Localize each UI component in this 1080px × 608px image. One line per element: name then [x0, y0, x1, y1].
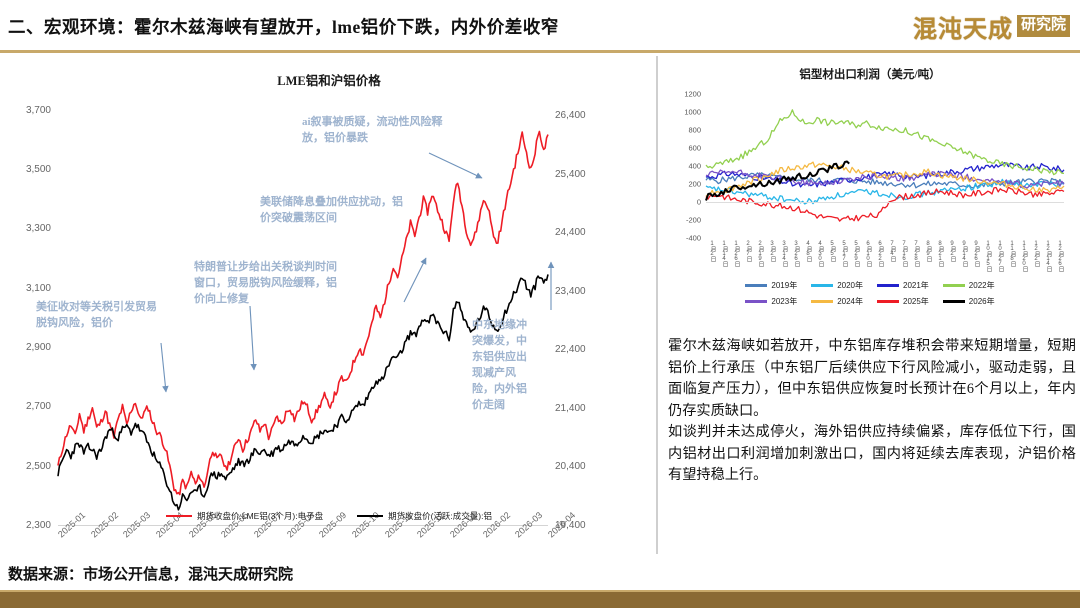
legend-label-2019年: 2019年	[771, 280, 797, 291]
right-chart-title: 铝型材出口利润（美元/吨）	[664, 66, 1076, 82]
right-chart-x-tick: 11月20日	[1020, 241, 1029, 271]
legend-label-2025年: 2025年	[903, 296, 929, 307]
right-chart-y-tick: 400	[688, 162, 706, 171]
right-chart-x-tick: 5月17日	[840, 241, 849, 266]
right-chart-panel: 铝型材出口利润（美元/吨） 120010008006004002000-200-…	[664, 58, 1076, 330]
column-divider	[656, 56, 658, 554]
page-title: 二、宏观环境：霍尔木兹海峡有望放开，lme铝价下跌，内外价差收窄	[8, 14, 559, 39]
right-chart-x-tick: 9月14日	[960, 241, 969, 266]
right-chart-x-tick: 8月9日	[924, 241, 933, 261]
legend-swatch-2019年	[745, 284, 767, 287]
right-chart-legend: 2019年2020年2021年2022年2023年2024年2025年2026年	[664, 280, 1076, 312]
legend-swatch-2025年	[877, 300, 899, 303]
annotation-fedcut: 美联储降息叠加供应扰动，铝价突破震荡区间	[260, 195, 408, 227]
right-chart-x-tick: 12月26日	[1056, 241, 1065, 271]
right-chart-x-tick: 1月26日	[732, 241, 741, 266]
brand-logo-text: 混沌天成	[913, 9, 1013, 44]
left-chart-legend: 期货收盘价:LME铝(3个月):电子盘 期货收盘价(活跃:成交量):铝	[6, 510, 652, 522]
legend-item-2021年: 2021年	[877, 280, 929, 291]
right-axis-tick: 25,400	[548, 169, 586, 180]
legend-swatch-2022年	[943, 284, 965, 287]
right-chart-x-tick: 9月26日	[972, 241, 981, 266]
right-chart-x-tick: 4月30日	[816, 241, 825, 266]
right-chart-x-tick: 11月8日	[1008, 241, 1017, 266]
right-chart-x-tick: 3月14日	[780, 241, 789, 266]
legend-label-2022年: 2022年	[969, 280, 995, 291]
right-chart-x-tick: 10月27日	[996, 241, 1005, 271]
brand-logo-badge: 研究院	[1017, 15, 1070, 37]
legend-item-2025年: 2025年	[877, 296, 929, 307]
right-chart-y-tick: 800	[688, 126, 706, 135]
legend-label-shfe: 期货收盘价(活跃:成交量):铝	[388, 510, 492, 522]
legend-item-2023年: 2023年	[745, 296, 797, 307]
left-chart-title: LME铝和沪铝价格	[6, 70, 652, 89]
right-chart-series-svg	[706, 90, 1064, 238]
legend-swatch-lme	[166, 515, 192, 518]
series-line-2024年	[706, 162, 1064, 196]
source-note: 数据来源：市场公开信息，混沌天成研究院	[8, 563, 293, 584]
footer-band	[0, 592, 1080, 608]
legend-label-2026年: 2026年	[969, 296, 995, 307]
legend-item-2020年: 2020年	[811, 280, 863, 291]
right-chart-x-tick: 5月29日	[852, 241, 861, 266]
right-chart-y-tick: 600	[688, 144, 706, 153]
right-chart-x-tick: 7月28日	[912, 241, 921, 266]
legend-label-lme: 期货收盘价:LME铝(3个月):电子盘	[197, 510, 323, 522]
legend-label-2021年: 2021年	[903, 280, 929, 291]
right-chart-x-tick: 6月22日	[876, 241, 885, 266]
analysis-text: 霍尔木兹海峡如若放开，中东铝库存堆积会带来短期增量，短期铝价上行承压（中东铝厂后…	[668, 336, 1076, 487]
right-axis-tick: 22,400	[548, 344, 586, 355]
right-chart-legend-row: 2023年2024年2025年2026年	[664, 296, 1076, 307]
right-chart-x-tick: 12月2日	[1032, 241, 1041, 266]
legend-item-2019年: 2019年	[745, 280, 797, 291]
annotation-ai-selloff: ai叙事被质疑，流动性风险释放，铝价暴跌	[302, 115, 450, 147]
legend-swatch-shfe	[357, 515, 383, 518]
right-chart-x-tick: 9月2日	[948, 241, 957, 261]
right-chart-x-tick: 12月14日	[1044, 241, 1053, 271]
legend-swatch-2021年	[877, 284, 899, 287]
right-axis-tick: 20,400	[548, 461, 586, 472]
left-axis-tick: 3,700	[26, 105, 58, 116]
right-chart-x-tick: 6月10日	[864, 241, 873, 266]
header-divider	[0, 50, 1080, 53]
brand-logo: 混沌天成 研究院	[913, 8, 1070, 44]
right-chart-y-tick: 0	[697, 198, 706, 207]
legend-swatch-2023年	[745, 300, 767, 303]
right-axis-tick: 23,400	[548, 286, 586, 297]
right-chart-y-tick: -200	[686, 216, 706, 225]
legend-label-2024年: 2024年	[837, 296, 863, 307]
legend-label-2023年: 2023年	[771, 296, 797, 307]
right-chart-y-tick: -400	[686, 234, 706, 243]
right-chart-y-tick: 1000	[684, 108, 706, 117]
right-axis-tick: 26,400	[548, 110, 586, 121]
legend-item-lme: 期货收盘价:LME铝(3个月):电子盘	[166, 510, 323, 522]
right-chart-x-tick: 1月2日	[708, 241, 717, 261]
right-chart-legend-row: 2019年2020年2021年2022年	[664, 280, 1076, 291]
left-axis-tick: 3,100	[26, 283, 58, 294]
right-chart-x-tick: 4月8日	[804, 241, 813, 261]
right-chart-x-tick: 2月19日	[756, 241, 765, 266]
right-chart-x-tick: 10月15日	[984, 241, 993, 271]
legend-swatch-2026年	[943, 300, 965, 303]
right-chart-y-tick: 200	[688, 180, 706, 189]
legend-swatch-2020年	[811, 284, 833, 287]
right-chart-zero-line	[706, 202, 1064, 203]
legend-label-2020年: 2020年	[837, 280, 863, 291]
left-axis-tick: 2,900	[26, 342, 58, 353]
annotation-truce: 特朗普让步给出关税谈判时间窗口，贸易脱钩风险缓释，铝价向上修复	[194, 260, 346, 308]
annotation-tariff: 美征收对等关税引发贸易脱钩风险，铝价	[36, 300, 166, 332]
legend-item-2022年: 2022年	[943, 280, 995, 291]
right-axis-tick: 24,400	[548, 227, 586, 238]
right-chart-x-tick: 5月5日	[828, 241, 837, 261]
legend-swatch-2024年	[811, 300, 833, 303]
right-chart-x-tick: 1月14日	[720, 241, 729, 266]
right-chart-x-tick: 8月21日	[936, 241, 945, 266]
legend-item-2024年: 2024年	[811, 296, 863, 307]
left-axis-tick: 3,500	[26, 164, 58, 175]
right-chart-y-tick: 1200	[684, 90, 706, 99]
series-line-2025年	[706, 187, 1064, 221]
series-line-2022年	[706, 110, 1064, 175]
left-axis-tick: 3,300	[26, 223, 58, 234]
analysis-paragraph-2: 如谈判并未达成停火，海外铝供应持续偏紧，库存低位下行，国内铝材出口利润增加刺激出…	[668, 422, 1076, 487]
right-chart-x-tick: 3月26日	[792, 241, 801, 266]
legend-item-shfe: 期货收盘价(活跃:成交量):铝	[357, 510, 492, 522]
left-axis-tick: 2,700	[26, 401, 58, 412]
right-chart-x-tick: 7月16日	[900, 241, 909, 266]
right-axis-tick: 21,400	[548, 403, 586, 414]
right-chart-x-tick: 3月2日	[768, 241, 777, 261]
annotation-mideast: 中东地缘冲突爆发，中东铝供应出现减产风险，内外铝价走阔	[472, 318, 530, 414]
legend-item-2026年: 2026年	[943, 296, 995, 307]
analysis-paragraph-1: 霍尔木兹海峡如若放开，中东铝库存堆积会带来短期增量，短期铝价上行承压（中东铝厂后…	[668, 336, 1076, 422]
right-chart-x-tick: 2月7日	[744, 241, 753, 261]
slide-root: 二、宏观环境：霍尔木兹海峡有望放开，lme铝价下跌，内外价差收窄 混沌天成 研究…	[0, 0, 1080, 608]
right-chart-plot: 120010008006004002000-200-4001月2日1月14日1月…	[706, 90, 1064, 238]
right-chart-x-tick: 7月4日	[888, 241, 897, 261]
left-chart-panel: LME铝和沪铝价格 2,3002,5002,7002,9003,1003,300…	[6, 58, 652, 548]
left-axis-tick: 2,500	[26, 461, 58, 472]
